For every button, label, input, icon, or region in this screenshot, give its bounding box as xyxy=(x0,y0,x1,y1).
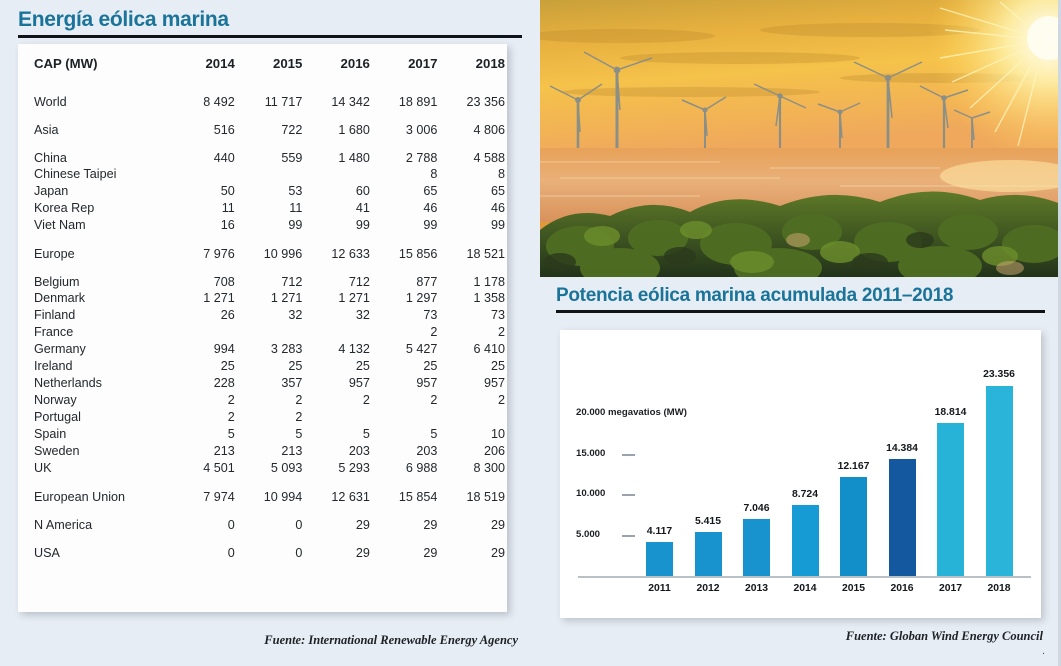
cell-2017: 73 xyxy=(372,307,440,324)
cell-2017: 29 xyxy=(372,533,440,561)
cell-2014: 228 xyxy=(169,375,237,392)
y-axis-tick-mark xyxy=(622,454,635,456)
cell-2018: 46 xyxy=(439,200,507,217)
row-label: Portugal xyxy=(18,409,169,426)
bar-2014[interactable] xyxy=(792,505,819,576)
table-row: Ireland2525252525 xyxy=(18,358,507,375)
cell-2017: 15 856 xyxy=(372,234,440,262)
table-row: Belgium7087127128771 178 xyxy=(18,262,507,290)
y-axis-tick-label: 15.000 xyxy=(576,448,605,459)
cell-2014: 11 xyxy=(169,200,237,217)
table-header: CAP (MW) 2014 2015 2016 2017 2018 xyxy=(18,44,507,82)
row-label: World xyxy=(18,82,169,110)
cell-2018: 23 356 xyxy=(439,82,507,110)
cell-2014 xyxy=(169,166,237,183)
right-column: Potencia eólica marina acumulada 2011–20… xyxy=(540,0,1061,666)
cell-2017: 3 006 xyxy=(372,110,440,138)
cell-2016: 29 xyxy=(304,505,372,533)
table-row: Germany9943 2834 1325 4276 410 xyxy=(18,341,507,358)
capacity-table: CAP (MW) 2014 2015 2016 2017 2018 World8… xyxy=(18,44,507,561)
bar-chart-card: 5.00010.00015.00020.000 megavatios (MW)4… xyxy=(560,330,1041,618)
x-axis-baseline xyxy=(578,576,1031,578)
cell-2018: 1 178 xyxy=(439,262,507,290)
bar-2015[interactable] xyxy=(840,477,867,576)
table-body: World8 49211 71714 34218 89123 356Asia51… xyxy=(18,82,507,561)
cell-2016: 4 132 xyxy=(304,341,372,358)
column-header-cap: CAP (MW) xyxy=(18,44,169,82)
cell-2018: 206 xyxy=(439,443,507,460)
cell-2015: 2 xyxy=(237,409,305,426)
bar-2012[interactable] xyxy=(695,532,722,576)
cell-2017: 2 788 xyxy=(372,138,440,166)
table-row: UK4 5015 0935 2936 9888 300 xyxy=(18,460,507,477)
cell-2016: 5 xyxy=(304,426,372,443)
cell-2018: 1 358 xyxy=(439,290,507,307)
table-row: Spain555510 xyxy=(18,426,507,443)
cell-2017: 18 891 xyxy=(372,82,440,110)
cell-2015: 2 xyxy=(237,392,305,409)
cell-2016 xyxy=(304,409,372,426)
table-row: Chinese Taipei88 xyxy=(18,166,507,183)
left-panel-header: Energía eólica marina xyxy=(0,0,540,35)
cell-2018: 2 xyxy=(439,324,507,341)
table-row: World8 49211 71714 34218 89123 356 xyxy=(18,82,507,110)
table-row: Europe7 97610 99612 63315 85618 521 xyxy=(18,234,507,262)
y-axis-tick-label: 5.000 xyxy=(576,529,600,540)
cell-2015: 722 xyxy=(237,110,305,138)
table-row: China4405591 4802 7884 588 xyxy=(18,138,507,166)
cell-2015: 3 283 xyxy=(237,341,305,358)
row-label: Viet Nam xyxy=(18,217,169,234)
table-row: Korea Rep1111414646 xyxy=(18,200,507,217)
cell-2014: 708 xyxy=(169,262,237,290)
row-label: Belgium xyxy=(18,262,169,290)
cell-2016: 1 480 xyxy=(304,138,372,166)
cell-2015: 0 xyxy=(237,505,305,533)
bar-2017[interactable] xyxy=(937,423,964,576)
cell-2018: 957 xyxy=(439,375,507,392)
cell-2016: 32 xyxy=(304,307,372,324)
row-label: France xyxy=(18,324,169,341)
bar-value-label-2015: 12.167 xyxy=(824,461,884,472)
cell-2018: 8 xyxy=(439,166,507,183)
cell-2017: 877 xyxy=(372,262,440,290)
cell-2016: 25 xyxy=(304,358,372,375)
cell-2015: 0 xyxy=(237,533,305,561)
cell-2014: 2 xyxy=(169,409,237,426)
row-label: Korea Rep xyxy=(18,200,169,217)
table-row: N America00292929 xyxy=(18,505,507,533)
bar-2011[interactable] xyxy=(646,542,673,576)
table-row: Viet Nam1699999999 xyxy=(18,217,507,234)
cell-2014: 0 xyxy=(169,505,237,533)
cell-2016: 12 631 xyxy=(304,477,372,505)
cell-2015: 10 994 xyxy=(237,477,305,505)
cell-2018: 18 521 xyxy=(439,234,507,262)
cell-2017: 8 xyxy=(372,166,440,183)
row-label: European Union xyxy=(18,477,169,505)
cell-2016: 1 271 xyxy=(304,290,372,307)
capacity-table-card: CAP (MW) 2014 2015 2016 2017 2018 World8… xyxy=(18,44,507,612)
cell-2017: 99 xyxy=(372,217,440,234)
bar-value-label-2013: 7.046 xyxy=(727,503,787,514)
cell-2015: 10 996 xyxy=(237,234,305,262)
infographic-page: Energía eólica marina CAP (MW) 2014 2015… xyxy=(0,0,1061,666)
bar-value-label-2018: 23.356 xyxy=(969,369,1029,380)
cell-2018: 99 xyxy=(439,217,507,234)
cell-2017: 65 xyxy=(372,183,440,200)
bar-2018[interactable] xyxy=(986,386,1013,577)
cell-2015: 25 xyxy=(237,358,305,375)
bar-value-label-2014: 8.724 xyxy=(775,489,835,500)
row-label: Japan xyxy=(18,183,169,200)
cell-2016: 957 xyxy=(304,375,372,392)
cell-2018: 65 xyxy=(439,183,507,200)
cell-2018: 2 xyxy=(439,392,507,409)
cell-2015 xyxy=(237,166,305,183)
cell-2016: 5 293 xyxy=(304,460,372,477)
cell-2014: 516 xyxy=(169,110,237,138)
offshore-wind-farm-photo xyxy=(540,0,1061,277)
cell-2015: 32 xyxy=(237,307,305,324)
x-axis-tick-2018: 2018 xyxy=(969,583,1029,594)
cell-2014: 2 xyxy=(169,392,237,409)
y-axis-tick-mark xyxy=(622,494,635,496)
table-row: France22 xyxy=(18,324,507,341)
row-label: USA xyxy=(18,533,169,561)
cell-2017: 15 854 xyxy=(372,477,440,505)
cell-2014: 0 xyxy=(169,533,237,561)
cell-2017: 25 xyxy=(372,358,440,375)
cell-2015: 11 xyxy=(237,200,305,217)
cell-2015: 213 xyxy=(237,443,305,460)
cell-2017: 1 297 xyxy=(372,290,440,307)
cell-2018: 25 xyxy=(439,358,507,375)
cell-2014: 4 501 xyxy=(169,460,237,477)
chart-source-caption: Fuente: Globan Wind Energy Council xyxy=(846,629,1043,644)
table-row: Netherlands228357957957957 xyxy=(18,375,507,392)
table-row: Finland2632327373 xyxy=(18,307,507,324)
cell-2015: 5 xyxy=(237,426,305,443)
chart-panel-header: Potencia eólica marina acumulada 2011–20… xyxy=(540,277,1061,310)
cell-2017: 957 xyxy=(372,375,440,392)
y-axis-tick-label: 20.000 megavatios (MW) xyxy=(576,407,687,418)
cell-2018: 6 410 xyxy=(439,341,507,358)
cell-2015 xyxy=(237,324,305,341)
cell-2014: 8 492 xyxy=(169,82,237,110)
cell-2018: 18 519 xyxy=(439,477,507,505)
table-source-caption: Fuente: International Renewable Energy A… xyxy=(264,633,518,648)
cell-2015: 1 271 xyxy=(237,290,305,307)
row-label: Asia xyxy=(18,110,169,138)
cell-2015: 53 xyxy=(237,183,305,200)
cell-2015: 5 093 xyxy=(237,460,305,477)
title-underline-rule xyxy=(18,35,522,38)
row-label: Ireland xyxy=(18,358,169,375)
table-row: Portugal22 xyxy=(18,409,507,426)
cell-2014: 25 xyxy=(169,358,237,375)
cell-2016: 14 342 xyxy=(304,82,372,110)
cell-2016 xyxy=(304,166,372,183)
cell-2018: 4 588 xyxy=(439,138,507,166)
cell-2016: 29 xyxy=(304,533,372,561)
cell-2014: 440 xyxy=(169,138,237,166)
row-label: China xyxy=(18,138,169,166)
cell-2018: 29 xyxy=(439,505,507,533)
cell-2016: 12 633 xyxy=(304,234,372,262)
row-label: Denmark xyxy=(18,290,169,307)
cell-2014: 7 974 xyxy=(169,477,237,505)
column-header-2016: 2016 xyxy=(304,44,372,82)
cell-2016: 60 xyxy=(304,183,372,200)
row-label: Netherlands xyxy=(18,375,169,392)
cell-2018: 4 806 xyxy=(439,110,507,138)
cell-2015: 99 xyxy=(237,217,305,234)
cell-2018: 8 300 xyxy=(439,460,507,477)
cell-2016: 1 680 xyxy=(304,110,372,138)
cell-2017: 2 xyxy=(372,324,440,341)
chart-title: Potencia eólica marina acumulada 2011–20… xyxy=(556,285,1045,310)
row-label: Finland xyxy=(18,307,169,324)
cell-2014: 994 xyxy=(169,341,237,358)
bar-2016[interactable] xyxy=(889,459,916,576)
cell-2016: 203 xyxy=(304,443,372,460)
cell-2015: 357 xyxy=(237,375,305,392)
page-title: Energía eólica marina xyxy=(18,8,522,35)
row-label: Spain xyxy=(18,426,169,443)
column-header-2014: 2014 xyxy=(169,44,237,82)
cell-2017: 6 988 xyxy=(372,460,440,477)
cell-2014: 5 xyxy=(169,426,237,443)
column-header-2015: 2015 xyxy=(237,44,305,82)
cell-2014: 1 271 xyxy=(169,290,237,307)
cell-2014: 50 xyxy=(169,183,237,200)
cell-2015: 11 717 xyxy=(237,82,305,110)
table-row: European Union7 97410 99412 63115 85418 … xyxy=(18,477,507,505)
cell-2017: 2 xyxy=(372,392,440,409)
chart-title-underline-rule xyxy=(556,310,1045,313)
cell-2018: 29 xyxy=(439,533,507,561)
row-label: Norway xyxy=(18,392,169,409)
table-row: Asia5167221 6803 0064 806 xyxy=(18,110,507,138)
trailing-dot: . xyxy=(1042,645,1045,657)
cumulative-capacity-chart-panel: Potencia eólica marina acumulada 2011–20… xyxy=(540,277,1061,666)
cell-2018: 73 xyxy=(439,307,507,324)
table-row: Sweden213213203203206 xyxy=(18,443,507,460)
row-label: UK xyxy=(18,460,169,477)
row-label: N America xyxy=(18,505,169,533)
row-label: Sweden xyxy=(18,443,169,460)
y-axis-tick-label: 10.000 xyxy=(576,488,605,499)
cell-2016: 2 xyxy=(304,392,372,409)
cell-2014: 16 xyxy=(169,217,237,234)
cell-2016: 712 xyxy=(304,262,372,290)
cell-2016 xyxy=(304,324,372,341)
table-row: Denmark1 2711 2711 2711 2971 358 xyxy=(18,290,507,307)
cell-2018: 10 xyxy=(439,426,507,443)
cell-2015: 712 xyxy=(237,262,305,290)
column-header-2018: 2018 xyxy=(439,44,507,82)
photo-illustration xyxy=(540,0,1061,277)
cell-2017: 5 427 xyxy=(372,341,440,358)
cell-2016: 41 xyxy=(304,200,372,217)
cell-2017 xyxy=(372,409,440,426)
cell-2018 xyxy=(439,409,507,426)
bar-chart-plot: 5.00010.00015.00020.000 megavatios (MW)4… xyxy=(560,330,1041,618)
bar-value-label-2011: 4.117 xyxy=(630,526,690,537)
table-row: Japan5053606565 xyxy=(18,183,507,200)
cell-2014 xyxy=(169,324,237,341)
table-header-row: CAP (MW) 2014 2015 2016 2017 2018 xyxy=(18,44,507,82)
cell-2017: 203 xyxy=(372,443,440,460)
cell-2017: 29 xyxy=(372,505,440,533)
cell-2014: 213 xyxy=(169,443,237,460)
cell-2015: 559 xyxy=(237,138,305,166)
table-row: Norway22222 xyxy=(18,392,507,409)
column-header-2017: 2017 xyxy=(372,44,440,82)
offshore-wind-table-panel: Energía eólica marina CAP (MW) 2014 2015… xyxy=(0,0,540,666)
cell-2014: 7 976 xyxy=(169,234,237,262)
row-label: Chinese Taipei xyxy=(18,166,169,183)
cell-2017: 5 xyxy=(372,426,440,443)
bar-value-label-2012: 5.415 xyxy=(678,516,738,527)
bar-value-label-2017: 18.814 xyxy=(921,407,981,418)
cell-2014: 26 xyxy=(169,307,237,324)
bar-value-label-2016: 14.384 xyxy=(872,443,932,454)
bar-2013[interactable] xyxy=(743,519,770,576)
cell-2017: 46 xyxy=(372,200,440,217)
row-label: Europe xyxy=(18,234,169,262)
cell-2016: 99 xyxy=(304,217,372,234)
table-row: USA00292929 xyxy=(18,533,507,561)
row-label: Germany xyxy=(18,341,169,358)
